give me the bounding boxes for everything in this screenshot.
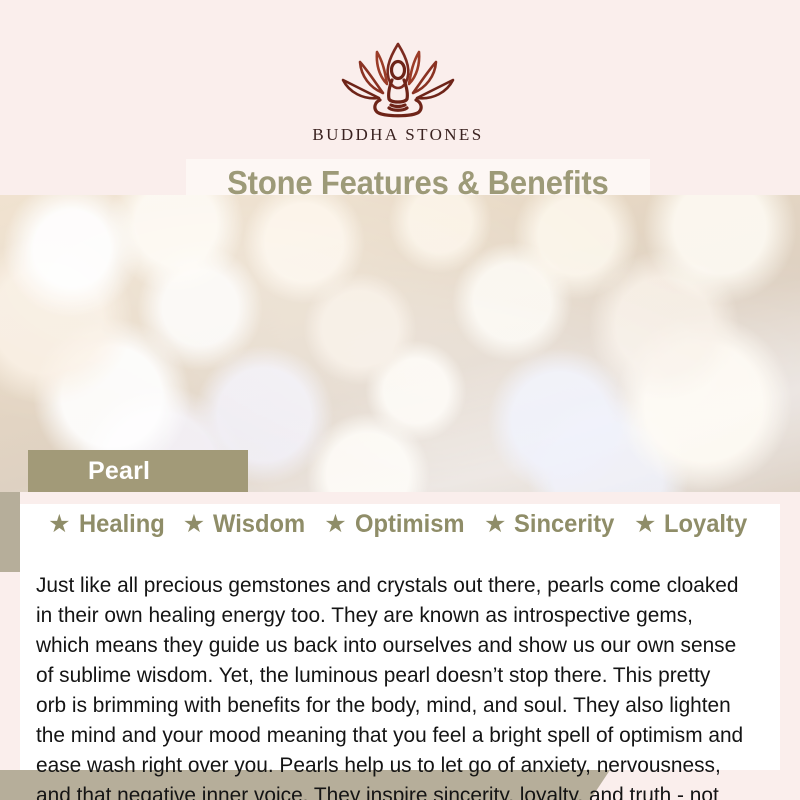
benefit-label: Healing	[79, 512, 165, 537]
header: BUDDHA STONES Stone Features & Benefits	[0, 0, 800, 196]
benefits-list: ★ Healing ★ Wisdom ★ Optimism ★ Sincerit…	[20, 512, 780, 537]
brand-name: BUDDHA STONES	[18, 125, 778, 145]
star-icon: ★	[183, 512, 205, 537]
description-paragraph: Just like all precious gemstones and cry…	[36, 570, 744, 800]
page-title: Stone Features & Benefits	[227, 166, 608, 199]
benefit-item-sincerity: ★ Sincerity	[484, 512, 620, 537]
benefit-item-healing: ★ Healing	[48, 512, 169, 537]
benefit-label: Loyalty	[664, 512, 747, 537]
stone-name-label: Pearl	[88, 459, 150, 484]
benefit-item-wisdom: ★ Wisdom	[183, 512, 310, 537]
benefit-label: Optimism	[355, 512, 465, 537]
star-icon: ★	[634, 512, 656, 537]
infographic-card: BUDDHA STONES Stone Features & Benefits …	[0, 0, 800, 800]
benefit-item-loyalty: ★ Loyalty	[634, 512, 752, 537]
star-icon: ★	[324, 512, 346, 537]
pearl-photo-sheen	[0, 195, 800, 492]
content-panel: ★ Healing ★ Wisdom ★ Optimism ★ Sincerit…	[20, 492, 780, 770]
stone-name-badge: Pearl	[28, 450, 248, 492]
star-icon: ★	[48, 512, 70, 537]
brand-logo: BUDDHA STONES	[18, 38, 778, 145]
benefit-label: Sincerity	[514, 512, 614, 537]
pearl-photo: Pearl	[0, 195, 800, 492]
benefit-label: Wisdom	[213, 512, 305, 537]
benefit-item-optimism: ★ Optimism	[324, 512, 470, 537]
star-icon: ★	[484, 512, 506, 537]
lotus-meditation-figure-icon	[333, 38, 463, 122]
header-inner: BUDDHA STONES Stone Features & Benefits	[18, 22, 778, 196]
content-top-strip	[20, 492, 780, 504]
